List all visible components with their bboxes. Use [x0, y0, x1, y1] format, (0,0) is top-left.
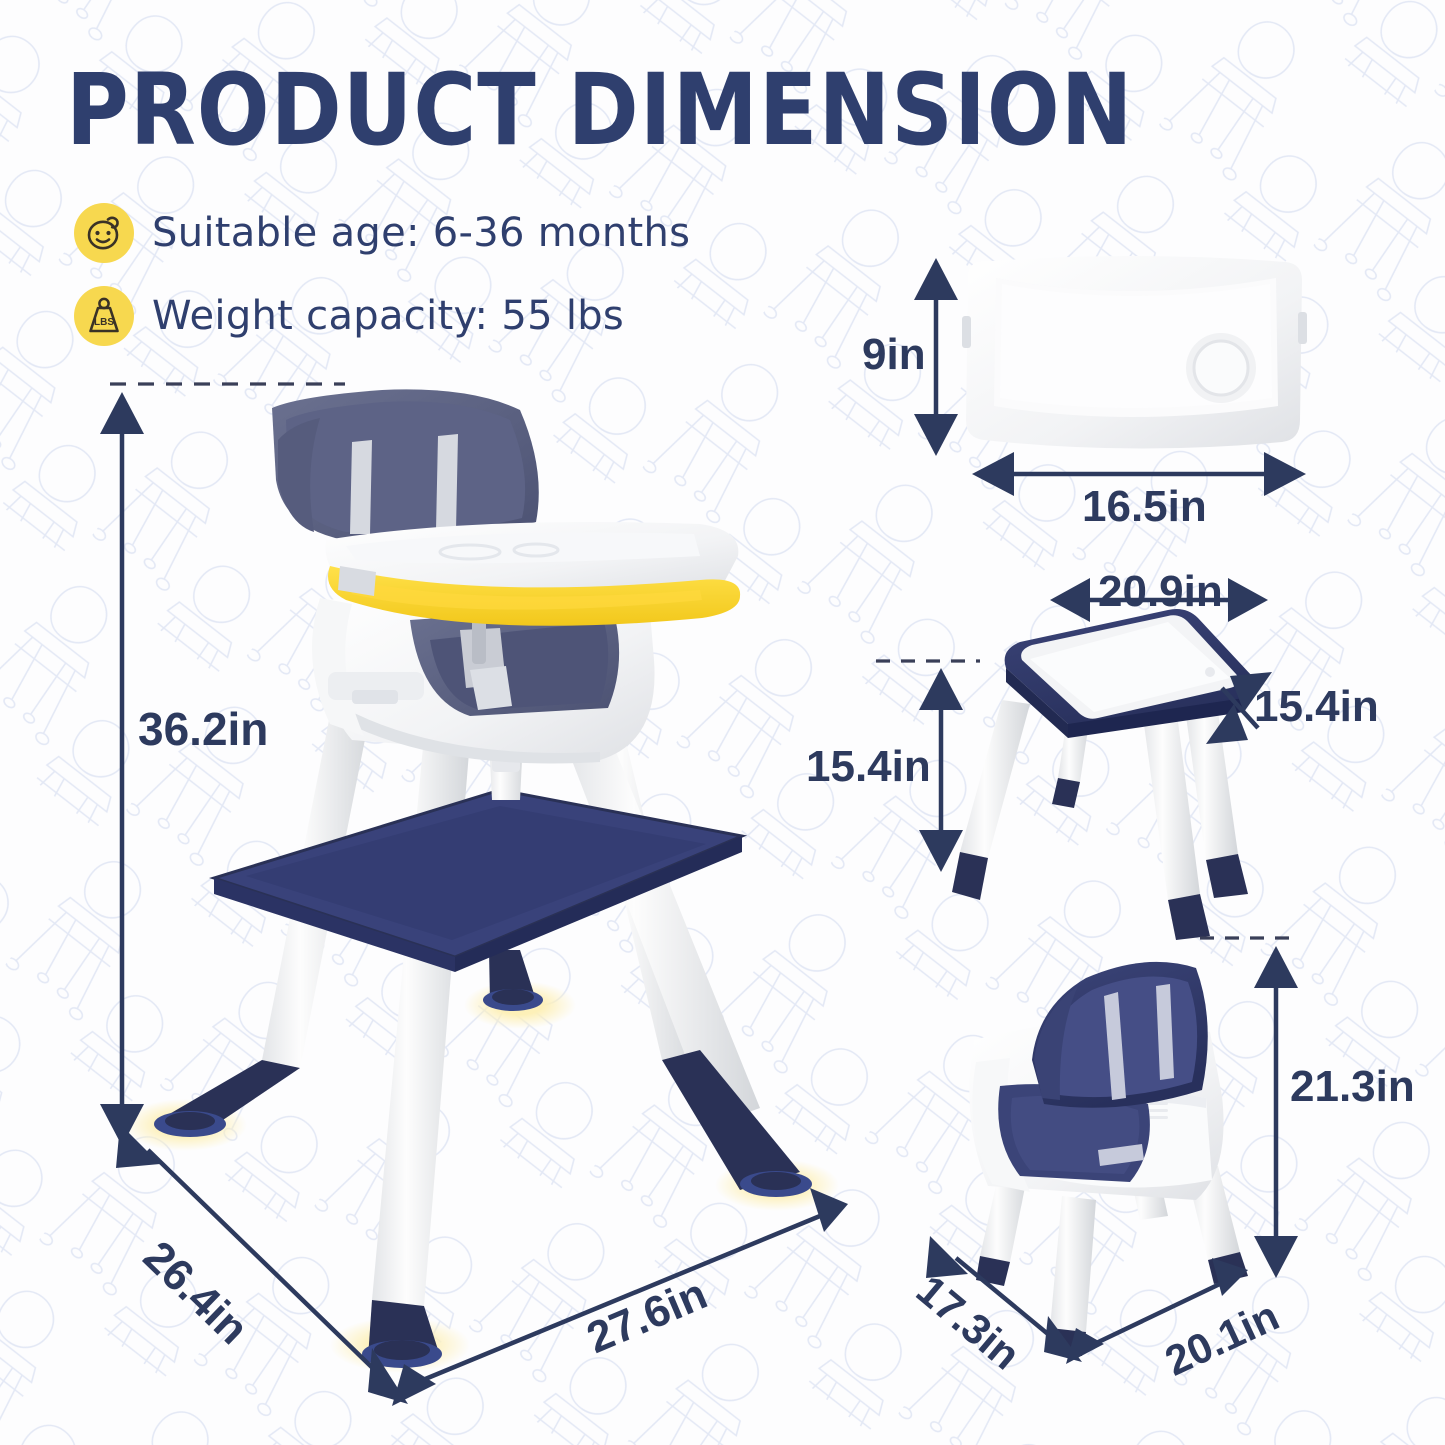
dim-label-lowchair-depth: 17.3in [907, 1266, 1029, 1379]
kids-table-illustration [952, 609, 1256, 940]
feeding-tray-illustration [962, 256, 1307, 449]
page-title: PRODUCT DIMENSION [66, 52, 1133, 168]
infographic-canvas: PRODUCT DIMENSION Suitable age: 6-36 mon… [0, 0, 1445, 1445]
spec-text-age: Suitable age: 6-36 months [152, 210, 690, 256]
dim-label-lowchair-height: 21.3in [1290, 1062, 1415, 1112]
dim-label-tray-width: 16.5in [1082, 482, 1207, 532]
dim-label-chair-height: 36.2in [138, 702, 268, 756]
dim-label-chair-depth: 26.4in [133, 1232, 257, 1355]
dim-label-chair-width: 27.6in [580, 1269, 714, 1364]
baby-face-icon [74, 203, 134, 263]
dim-label-lowchair-width: 20.1in [1158, 1292, 1286, 1386]
dim-label-tray-depth: 9in [862, 330, 926, 380]
dim-label-table-depth: 15.4in [1254, 682, 1379, 732]
weight-lbs-icon: LBS [74, 286, 134, 346]
high-chair-illustration [123, 389, 839, 1373]
dim-label-table-width: 20.9in [1098, 567, 1223, 617]
low-chair-illustration [969, 962, 1248, 1356]
spec-row-age: Suitable age: 6-36 months [74, 203, 690, 263]
spec-row-weight: LBS Weight capacity: 55 lbs [74, 286, 624, 346]
svg-text:LBS: LBS [94, 317, 114, 328]
dim-label-table-height: 15.4in [806, 742, 931, 792]
spec-text-weight: Weight capacity: 55 lbs [152, 293, 624, 339]
